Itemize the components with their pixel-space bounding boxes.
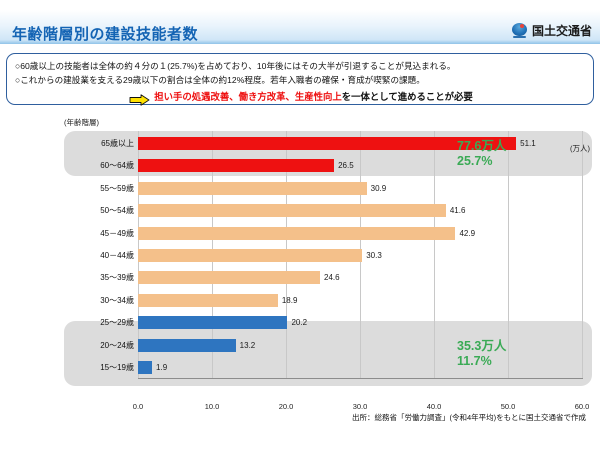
callout-line-1: ○60歳以上の技能者は全体の約４分の１(25.7%)を占めており、10年後にはそ… xyxy=(15,60,456,72)
bar-category-label: 55～59歳 xyxy=(64,183,134,194)
y-axis-label: (年齢階層) xyxy=(64,117,99,128)
callout-line-3: 担い手の処遇改善、働き方改革、生産性向上を一体として進めることが必要 xyxy=(7,89,595,104)
bar-value-label: 51.1 xyxy=(520,139,536,148)
bar-row: 50～54歳41.6 xyxy=(64,201,592,220)
ministry-name: 国土交通省 xyxy=(532,22,592,39)
source-note: 出所：総務省「労働力調査」(令和4年平均)をもとに国土交通省で作成 xyxy=(352,412,586,423)
bar xyxy=(138,271,320,284)
bar-value-label: 26.5 xyxy=(338,161,354,170)
bar xyxy=(138,361,152,374)
bar-value-label: 18.9 xyxy=(282,296,298,305)
bar-category-label: 20～24歳 xyxy=(64,340,134,351)
x-tick-label: 20.0 xyxy=(279,402,294,411)
bar-category-label: 25～29歳 xyxy=(64,317,134,328)
ministry-logo: 国土交通省 xyxy=(512,22,592,39)
yellow-right-arrow-icon xyxy=(129,94,150,106)
young-count: 35.3万人 xyxy=(457,339,506,354)
senior-annotation: 77.6万人 25.7% xyxy=(457,139,506,169)
mlit-emblem-icon xyxy=(512,23,527,38)
bar-value-label: 41.6 xyxy=(450,206,466,215)
senior-share: 25.7% xyxy=(457,154,506,169)
bar-row: 55～59歳30.9 xyxy=(64,179,592,198)
bar-category-label: 45－49歳 xyxy=(64,228,134,239)
x-axis-unit: (万人) xyxy=(570,143,590,154)
bar xyxy=(138,294,278,307)
bar-category-label: 15～19歳 xyxy=(64,362,134,373)
bar xyxy=(138,316,287,329)
slide: 年齢階層別の建設技能者数 国土交通省 ○60歳以上の技能者は全体の約４分の１(2… xyxy=(0,0,600,450)
x-tick-label: 0.0 xyxy=(133,402,143,411)
x-tick-label: 40.0 xyxy=(427,402,442,411)
slide-header: 年齢階層別の建設技能者数 国土交通省 xyxy=(0,10,600,44)
callout-tail: を一体として進めることが必要 xyxy=(342,91,473,102)
bar-row: 20～24歳13.2 xyxy=(64,336,592,355)
bar-row: 65歳以上51.1 xyxy=(64,134,592,153)
bar-chart: (年齢階層) 65歳以上51.160～64歳26.555～59歳30.950～5… xyxy=(64,117,592,417)
bar-value-label: 20.2 xyxy=(291,318,307,327)
bar-value-label: 13.2 xyxy=(240,341,256,350)
bar-category-label: 30～34歳 xyxy=(64,295,134,306)
summary-callout: ○60歳以上の技能者は全体の約４分の１(25.7%)を占めており、10年後にはそ… xyxy=(6,53,594,105)
x-axis-line xyxy=(138,378,583,379)
bar-category-label: 65歳以上 xyxy=(64,138,134,149)
x-tick-label: 10.0 xyxy=(205,402,220,411)
bar-value-label: 24.6 xyxy=(324,273,340,282)
bar xyxy=(138,204,446,217)
bar xyxy=(138,339,236,352)
bar-row: 30～34歳18.9 xyxy=(64,291,592,310)
bar-value-label: 42.9 xyxy=(459,229,475,238)
bar xyxy=(138,159,334,172)
young-share: 11.7% xyxy=(457,354,506,369)
bar-row: 45－49歳42.9 xyxy=(64,224,592,243)
senior-count: 77.6万人 xyxy=(457,139,506,154)
bar-row: 60～64歳26.5 xyxy=(64,156,592,175)
bar-value-label: 30.9 xyxy=(371,184,387,193)
bar-value-label: 1.9 xyxy=(156,363,167,372)
bar-category-label: 60～64歳 xyxy=(64,160,134,171)
bar-rows: 65歳以上51.160～64歳26.555～59歳30.950～54歳41.64… xyxy=(64,131,592,378)
bar xyxy=(138,227,455,240)
bar-row: 40－44歳30.3 xyxy=(64,246,592,265)
callout-line-2: ○これからの建設業を支える29歳以下の割合は全体の約12%程度。若年入職者の確保… xyxy=(15,74,425,86)
bar-category-label: 40－44歳 xyxy=(64,250,134,261)
page-title: 年齢階層別の建設技能者数 xyxy=(12,23,198,44)
bar xyxy=(138,249,362,262)
bar-row: 15～19歳1.9 xyxy=(64,358,592,377)
plot-area: 65歳以上51.160～64歳26.555～59歳30.950～54歳41.64… xyxy=(64,131,592,386)
x-tick-label: 60.0 xyxy=(575,402,590,411)
bar-row: 35～39歳24.6 xyxy=(64,268,592,287)
bar-category-label: 50～54歳 xyxy=(64,205,134,216)
bar xyxy=(138,182,367,195)
bar-value-label: 30.3 xyxy=(366,251,382,260)
bar-category-label: 35～39歳 xyxy=(64,272,134,283)
young-annotation: 35.3万人 11.7% xyxy=(457,339,506,369)
x-tick-label: 50.0 xyxy=(501,402,516,411)
bar-row: 25～29歳20.2 xyxy=(64,313,592,332)
x-tick-label: 30.0 xyxy=(353,402,368,411)
callout-emphasis: 担い手の処遇改善、働き方改革、生産性向上 xyxy=(154,91,342,102)
